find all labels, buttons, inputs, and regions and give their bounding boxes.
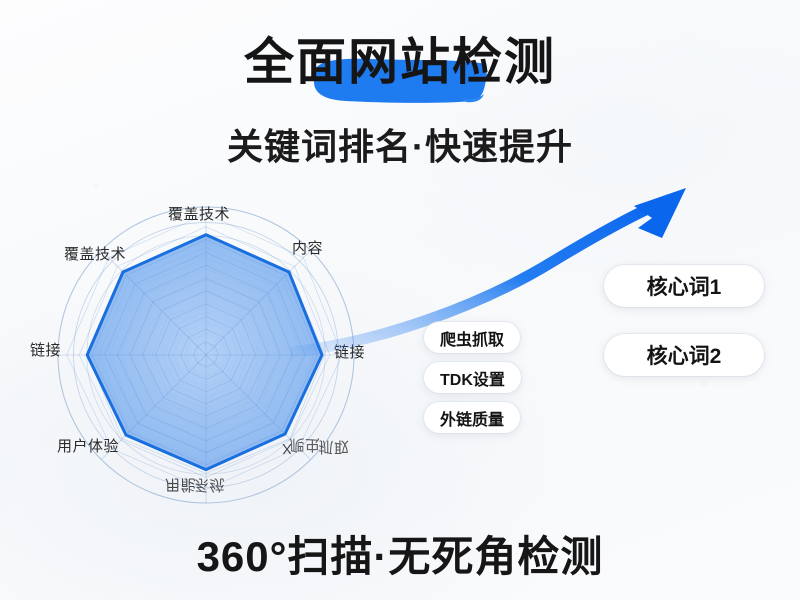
radar-axis-label-top-right: 内容 — [292, 237, 323, 258]
keyword-pill-2[interactable]: 核心词2 — [604, 334, 764, 376]
title-segment-3: 检测 — [452, 34, 556, 90]
radar-axis-label-top: 覆盖技术 — [168, 203, 230, 224]
radar-axis-label-bottom: 用能系统 — [165, 475, 227, 496]
radar-axis-label-top-left: 覆盖技术 — [64, 243, 126, 264]
title-block: 全面网站检测 — [0, 36, 800, 89]
radar-axis-label-left: 链接 — [30, 339, 61, 360]
title-segment-2: 网站 — [348, 34, 452, 90]
page-subtitle: 关键词排名·快速提升 — [0, 118, 800, 170]
radar-axis-label-bottom-right: X爬虫抓取 — [282, 437, 352, 458]
radar-chart: 覆盖技术 内容 链接 X爬虫抓取 用能系统 用户体验 链接 覆盖技术 — [30, 195, 400, 515]
tag-pill-crawl[interactable]: 爬虫抓取 — [424, 322, 520, 353]
radar-axis-label-right: 链接 — [334, 341, 365, 362]
arrow-head — [634, 188, 686, 238]
poster-canvas: 全面网站检测 关键词排名·快速提升 覆盖技术 内容 链接 X爬虫抓取 用能系统 … — [0, 0, 800, 600]
keyword-pill-1[interactable]: 核心词1 — [604, 265, 764, 307]
page-title: 全面网站检测 — [244, 36, 556, 89]
tag-pill-backlink[interactable]: 外链质量 — [424, 402, 520, 433]
footer-headline: 360°扫描·无死角检测 — [0, 523, 800, 584]
title-segment-1: 全面 — [244, 34, 348, 90]
radar-axis-label-bottom-left: 用户体验 — [57, 435, 119, 456]
tag-pill-tdk[interactable]: TDK设置 — [424, 362, 521, 393]
